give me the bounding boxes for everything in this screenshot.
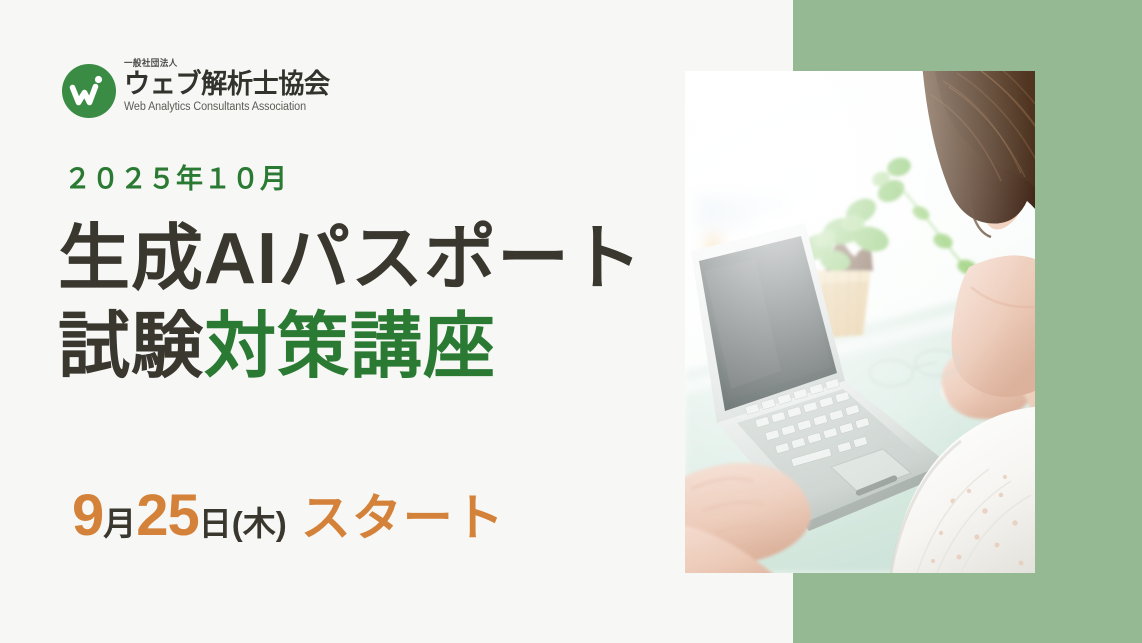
hero-photo — [685, 71, 1035, 573]
wacA-logo-mark-icon — [62, 64, 116, 118]
promo-banner: 一般社団法人 ウェブ解析士協会 Web Analytics Consultant… — [0, 0, 1142, 643]
start-month-number: 9 — [72, 483, 103, 548]
hero-photo-image — [685, 71, 1035, 573]
headline-line-2: 試験対策講座 — [58, 304, 496, 390]
wacA-logo[interactable]: 一般社団法人 ウェブ解析士協会 Web Analytics Consultant… — [62, 58, 324, 124]
start-month-unit: 月 — [103, 505, 136, 542]
start-date-line: 9月25日(木)スタート — [72, 483, 505, 564]
start-day-unit: 日 — [199, 505, 232, 542]
start-day-number: 25 — [136, 483, 199, 548]
logo-name-ja: ウェブ解析士協会 — [124, 69, 318, 100]
eyebrow-date: ２０２５年１０月 — [64, 157, 288, 196]
wacA-logo-text: 一般社団法人 ウェブ解析士協会 Web Analytics Consultant… — [124, 58, 324, 122]
logo-kicker: 一般社団法人 — [124, 58, 314, 69]
headline-line-2-dark: 試験 — [58, 307, 204, 387]
logo-name-en: Web Analytics Consultants Association — [124, 100, 312, 114]
headline-line-1: 生成AIパスポート — [58, 216, 643, 302]
headline-line-2-accent: 対策講座 — [204, 307, 496, 387]
start-label: スタート — [301, 490, 505, 546]
start-day-of-week: (木) — [232, 505, 287, 542]
